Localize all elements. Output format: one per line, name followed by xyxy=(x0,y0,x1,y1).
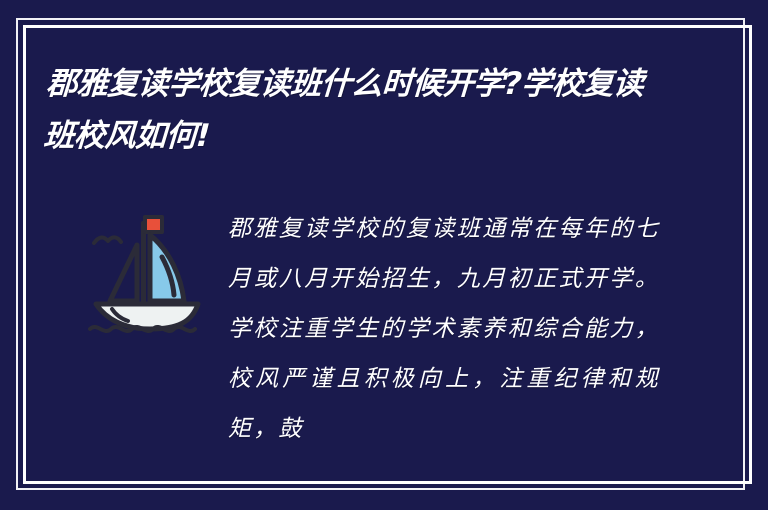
body-paragraph: 郡雅复读学校的复读班通常在每年的七月或八月开始招生，九月初正式开学。学校注重学生… xyxy=(228,204,660,454)
flag-shape xyxy=(145,217,162,232)
wave-shape-upper xyxy=(90,327,195,331)
jib-sail-shape xyxy=(110,245,137,301)
seagull-icon xyxy=(94,237,121,243)
page-title: 郡雅复读学校复读班什么时候开学?学校复读班校风如何! xyxy=(42,58,647,162)
poster-canvas: 郡雅复读学校复读班什么时候开学?学校复读班校风如何! 郡雅复读学校的复读班通常在… xyxy=(0,0,768,510)
sailboat-illustration xyxy=(88,205,206,335)
